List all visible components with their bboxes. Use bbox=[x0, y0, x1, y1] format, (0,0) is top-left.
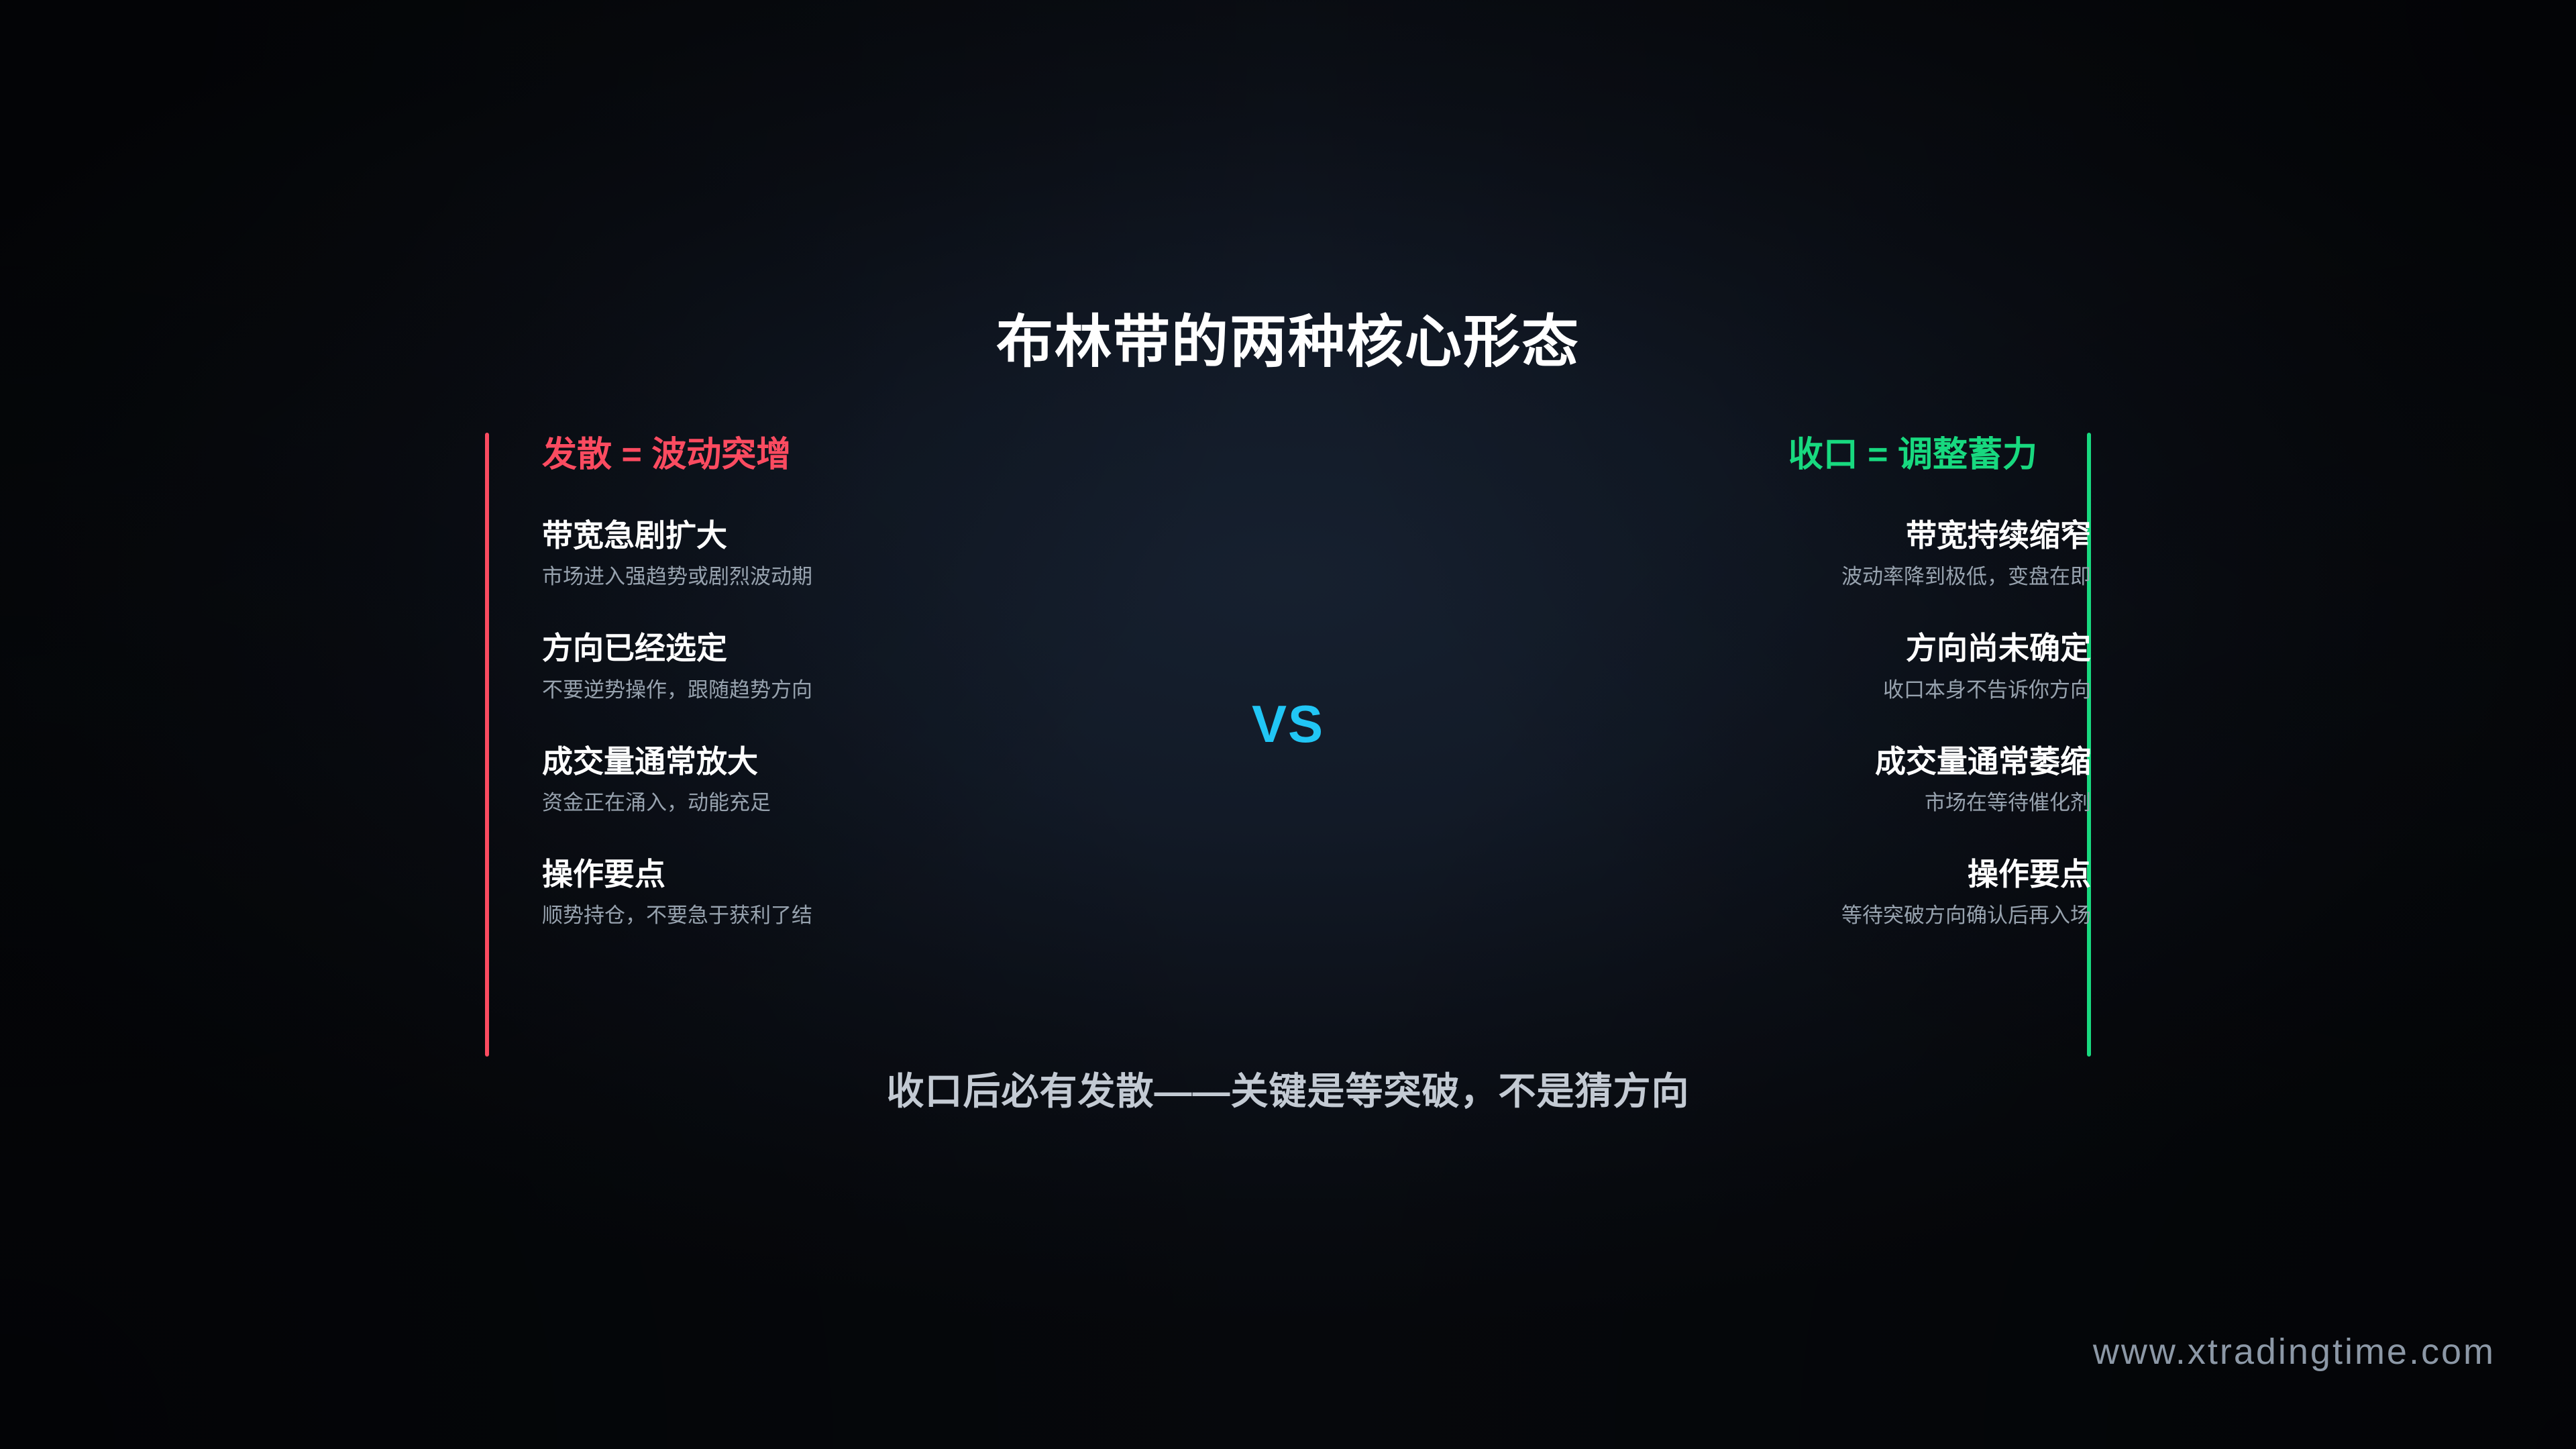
page-title: 布林带的两种核心形态 bbox=[0, 314, 2576, 371]
item-subtitle: 市场在等待催化剂 bbox=[1152, 790, 2091, 816]
slide-root: 布林带的两种核心形态 发散 = 波动突增 带宽急剧扩大 市场进入强趋势或剧烈波动… bbox=[0, 0, 2576, 1449]
list-item: 成交量通常萎缩 市场在等待催化剂 bbox=[1152, 743, 2091, 816]
item-title: 带宽持续缩窄 bbox=[1152, 517, 2091, 554]
vs-divider-label: VS bbox=[0, 698, 2576, 750]
summary-tagline: 收口后必有发散——关键是等突破，不是猜方向 bbox=[0, 1071, 2576, 1112]
list-item: 方向尚未确定 收口本身不告诉你方向 bbox=[1152, 629, 2091, 703]
left-column-heading: 发散 = 波动突增 bbox=[542, 436, 791, 474]
right-column-heading: 收口 = 调整蓄力 bbox=[1788, 436, 2037, 474]
item-subtitle: 等待突破方向确认后再入场 bbox=[1152, 902, 2091, 929]
item-title: 操作要点 bbox=[1152, 855, 2091, 893]
list-item: 操作要点 等待突破方向确认后再入场 bbox=[1152, 855, 2091, 929]
item-title: 方向尚未确定 bbox=[1152, 629, 2091, 667]
site-watermark: www.xtradingtime.com bbox=[2093, 1334, 2495, 1370]
item-subtitle: 波动率降到极低，变盘在即 bbox=[1152, 563, 2091, 590]
list-item: 带宽持续缩窄 波动率降到极低，变盘在即 bbox=[1152, 517, 2091, 590]
